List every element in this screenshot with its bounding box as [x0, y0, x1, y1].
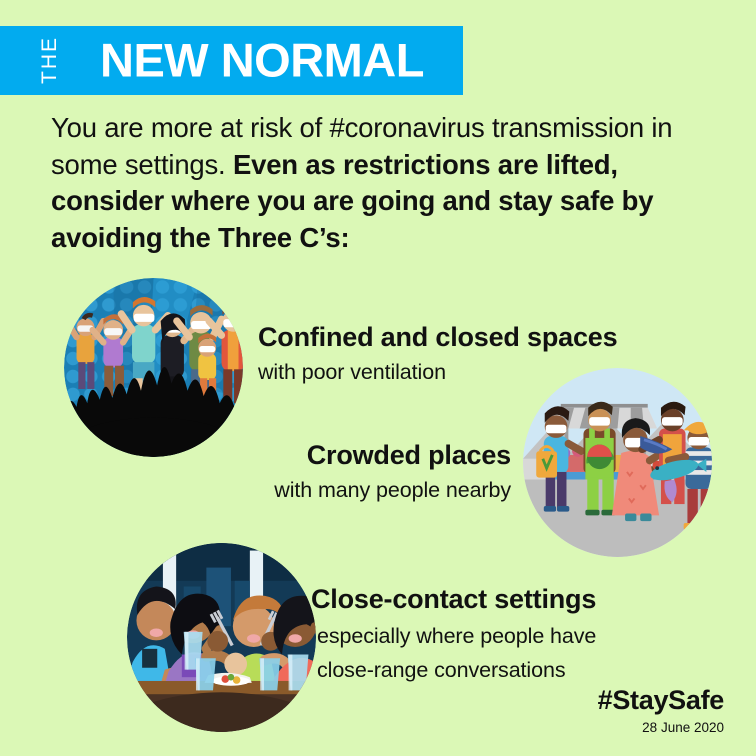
header-banner: THE NEW NORMAL: [0, 26, 463, 95]
crowded-places-heading: Crowded places: [258, 440, 511, 472]
crowded-places-subtext: with many people nearby: [258, 477, 511, 504]
outdoor-market-crowd-masks-illustration: [523, 368, 712, 557]
nightclub-illustration-svg: [64, 278, 243, 457]
dining-illustration-svg: [127, 543, 316, 732]
confined-spaces-subtext: with poor ventilation: [258, 359, 617, 386]
close-contact-heading: Close-contact settings: [311, 584, 596, 616]
crowded-places-text-block: Crowded places with many people nearby: [258, 440, 511, 504]
confined-spaces-heading: Confined and closed spaces: [258, 322, 617, 354]
confined-spaces-text-block: Confined and closed spaces with poor ven…: [258, 322, 617, 386]
header-kicker: THE: [39, 36, 60, 84]
market-illustration-svg: [523, 368, 712, 557]
poster-canvas: THE NEW NORMAL You are more at risk of #…: [0, 0, 756, 756]
page-title: NEW NORMAL: [100, 36, 424, 83]
staysafe-hashtag: #StaySafe: [598, 686, 724, 716]
publication-date: 28 June 2020: [598, 720, 724, 736]
restaurant-diners-close-contact-illustration: [127, 543, 316, 732]
footer: #StaySafe 28 June 2020: [598, 686, 724, 736]
close-contact-subtext-line1: especially where people have: [311, 623, 596, 650]
nightclub-crowd-masks-illustration: [64, 278, 243, 457]
intro-paragraph: You are more at risk of #coronavirus tra…: [51, 110, 723, 256]
close-contact-subtext-line2: close-range conversations: [311, 657, 596, 684]
close-contact-text-block: Close-contact settings especially where …: [311, 584, 596, 684]
